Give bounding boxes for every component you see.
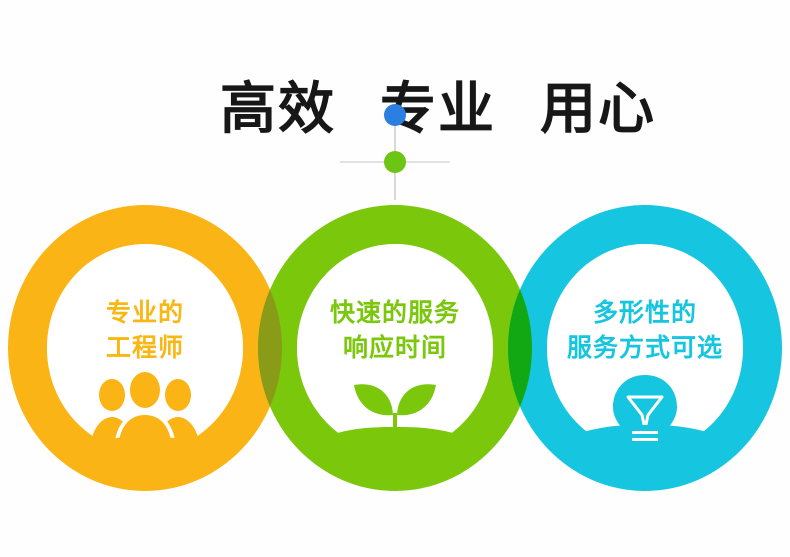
circle-options[interactable]: 多形性的 服务方式可选 [547, 296, 743, 460]
lightbulb-icon [580, 371, 710, 455]
circle-engineers-line1: 专业的 [47, 296, 243, 331]
circle-response[interactable]: 快速的服务 响应时间 [297, 296, 493, 460]
people-group-icon [80, 371, 210, 453]
circle-response-line2: 响应时间 [297, 331, 493, 366]
circle-options-line1: 多形性的 [547, 296, 743, 331]
poster-canvas: 高效专业用心 [0, 0, 790, 557]
sprout-leaf-icon [330, 371, 460, 455]
venn-rings-group [0, 0, 790, 557]
circle-engineers-line2: 工程师 [47, 331, 243, 366]
circle-options-line2: 服务方式可选 [547, 331, 743, 366]
circle-response-line1: 快速的服务 [297, 296, 493, 331]
circle-engineers[interactable]: 专业的 工程师 [47, 296, 243, 458]
